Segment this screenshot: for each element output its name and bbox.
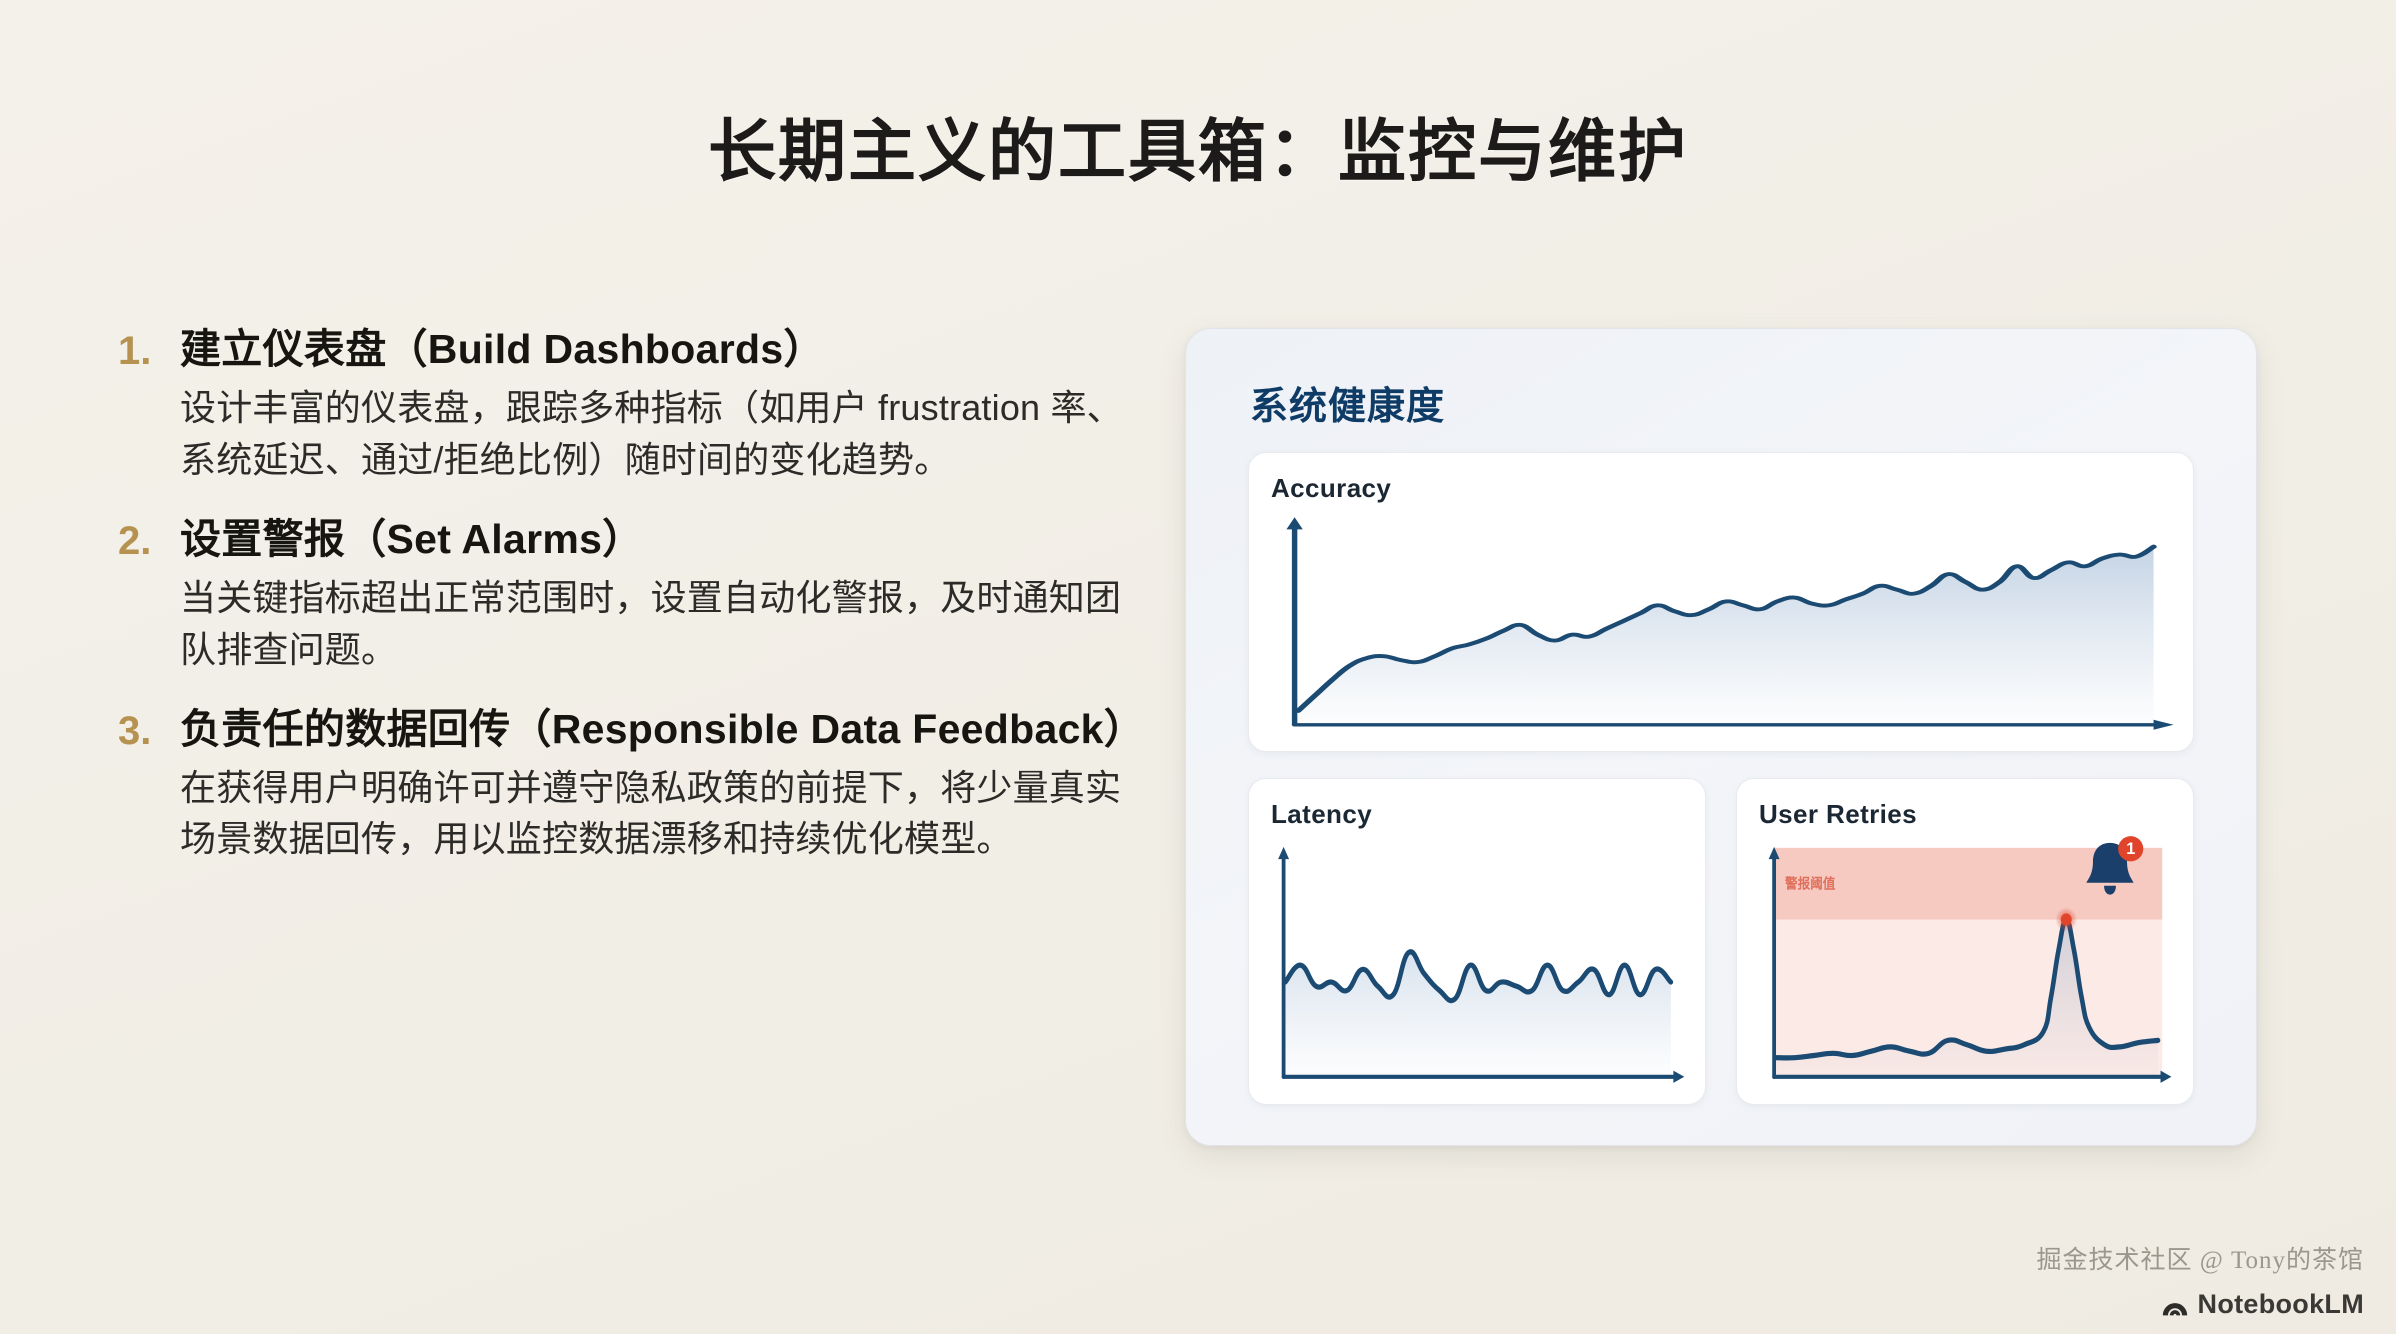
chart-plot-latency <box>1271 845 1691 1090</box>
chart-label-latency: Latency <box>1271 799 1683 830</box>
accuracy-line-chart <box>1271 515 2179 737</box>
list-item-number: 2. <box>118 512 180 569</box>
list-item-body: 建立仪表盘（Build Dashboards） 设计丰富的仪表盘，跟踪多种指标（… <box>180 322 1128 486</box>
chart-row-secondary: Latency <box>1248 778 2194 1105</box>
notebooklm-logo-icon <box>2160 1290 2190 1320</box>
bell-icon[interactable]: 1 <box>2073 831 2147 905</box>
list-item-heading: 建立仪表盘（Build Dashboards） <box>180 322 1128 376</box>
list-item-description: 在获得用户明确许可并遵守隐私政策的前提下，将少量真实场景数据回传，用以监控数据漂… <box>180 762 1128 866</box>
chart-card-latency[interactable]: Latency <box>1248 778 1706 1105</box>
alert-point <box>2061 913 2072 925</box>
latency-line-chart <box>1271 845 1691 1090</box>
list-item-body: 负责任的数据回传（Responsible Data Feedback） 在获得用… <box>180 702 1128 866</box>
list-item-description: 设计丰富的仪表盘，跟踪多种指标（如用户 frustration 率、系统延迟、通… <box>180 382 1128 486</box>
list-item-description: 当关键指标超出正常范围时，设置自动化警报，及时通知团队排查问题。 <box>180 572 1128 676</box>
chart-card-user-retries[interactable]: User Retries 1 <box>1736 778 2194 1105</box>
page-title: 长期主义的工具箱：监控与维护 <box>0 96 2396 195</box>
list-item-number: 1. <box>118 322 180 379</box>
chart-label-user-retries: User Retries <box>1759 799 2171 830</box>
chart-plot-accuracy <box>1271 515 2179 737</box>
chart-label-accuracy: Accuracy <box>1271 473 2171 504</box>
alert-threshold-label: 警报阈值 <box>1785 875 1836 892</box>
list-item-number: 3. <box>118 702 180 759</box>
bell-icon-glyph: 1 <box>2073 831 2147 905</box>
list-item: 2. 设置警报（Set Alarms） 当关键指标超出正常范围时，设置自动化警报… <box>118 512 1128 676</box>
numbered-list: 1. 建立仪表盘（Build Dashboards） 设计丰富的仪表盘，跟踪多种… <box>118 322 1128 865</box>
system-health-panel: 系统健康度 Accuracy <box>1185 328 2257 1146</box>
list-item-heading: 负责任的数据回传（Responsible Data Feedback） <box>180 702 1128 756</box>
slide-root: 长期主义的工具箱：监控与维护 1. 建立仪表盘（Build Dashboards… <box>0 0 2396 1334</box>
notebooklm-label: NotebookLM <box>2198 1289 2364 1320</box>
notebooklm-brand: NotebookLM <box>2160 1289 2364 1320</box>
watermark: 掘金技术社区 @ Tony的茶馆 <box>2036 1240 2364 1276</box>
list-item-heading: 设置警报（Set Alarms） <box>180 512 1128 566</box>
bell-badge-count: 1 <box>2126 840 2135 858</box>
chart-card-accuracy[interactable]: Accuracy <box>1248 452 2194 752</box>
list-item-body: 设置警报（Set Alarms） 当关键指标超出正常范围时，设置自动化警报，及时… <box>180 512 1128 676</box>
list-item: 3. 负责任的数据回传（Responsible Data Feedback） 在… <box>118 702 1128 866</box>
list-item: 1. 建立仪表盘（Build Dashboards） 设计丰富的仪表盘，跟踪多种… <box>118 322 1128 486</box>
dashboard-title: 系统健康度 <box>1250 375 2218 430</box>
